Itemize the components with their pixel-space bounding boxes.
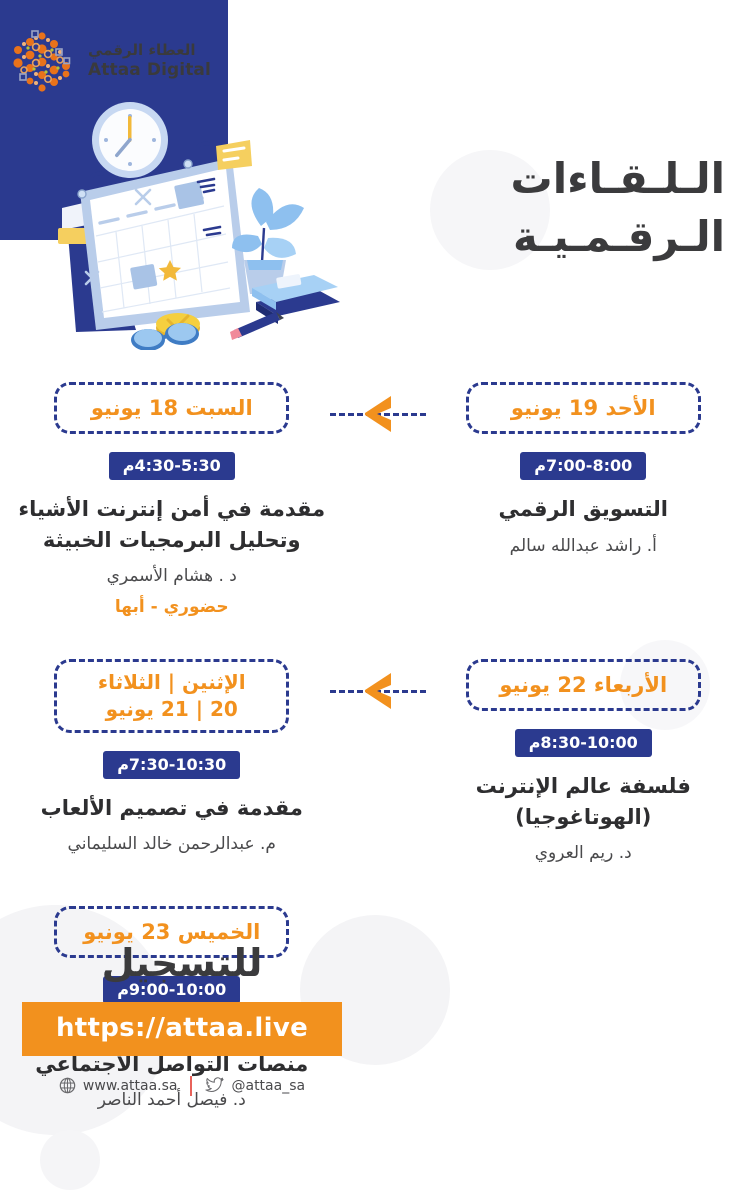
registration-label: للتسجيل (22, 940, 342, 988)
title-line-1: الـلـقـاءات (305, 150, 725, 208)
social-links: www.attaa.sa @attaa_sa (22, 1076, 342, 1096)
event-time-badge: 8:30-10:00م (515, 729, 652, 757)
social-divider (190, 1076, 192, 1096)
event-date-chip: الإثنين | الثلاثاء 20 | 21 يونيو (54, 659, 289, 733)
background-circle (40, 1130, 100, 1190)
twitter-label: @attaa_sa (231, 1078, 305, 1094)
calendar-desk-illustration (18, 40, 358, 350)
website-link[interactable]: www.attaa.sa (59, 1077, 178, 1094)
event-date-chip: السبت 18 يونيو (54, 382, 289, 434)
event-topic: فلسفة عالم الإنترنت (الهوتاغوجيا) (426, 771, 742, 832)
schedule-row: السبت 18 يونيو 4:30-5:30م مقدمة في أمن إ… (14, 382, 741, 617)
poster-header: العطاء الرقمي Attaa Digital الـلـقـاءات … (0, 0, 755, 360)
event-card[interactable]: الإثنين | الثلاثاء 20 | 21 يونيو 7:30-10… (14, 659, 330, 857)
arrow-left-connector (330, 659, 426, 723)
event-time-badge: 4:30-5:30م (109, 452, 235, 480)
schedule-row: الإثنين | الثلاثاء 20 | 21 يونيو 7:30-10… (14, 659, 741, 866)
registration-block: للتسجيل https://attaa.live www.attaa.sa … (22, 940, 342, 1096)
event-speaker: د . هشام الأسمري (14, 565, 330, 589)
page-title: الـلـقـاءات الـرقـمـيـة (305, 150, 725, 266)
arrow-left-icon (361, 671, 395, 711)
connector-placeholder (330, 906, 426, 970)
event-date-line-2: 20 | 21 يونيو (106, 697, 238, 721)
event-card[interactable]: الأحد 19 يونيو 7:00-8:00م التسويق الرقمي… (426, 382, 742, 559)
twitter-bird-icon (205, 1077, 224, 1094)
globe-icon (59, 1077, 76, 1094)
website-label: www.attaa.sa (83, 1078, 178, 1094)
event-speaker: م. عبدالرحمن خالد السليماني (14, 833, 330, 857)
title-line-2: الـرقـمـيـة (305, 208, 725, 266)
event-date-chip: الأربعاء 22 يونيو (466, 659, 701, 711)
arrow-left-icon (361, 394, 395, 434)
event-topic: مقدمة في أمن إنترنت الأشياء وتحليل البرم… (14, 494, 330, 555)
event-time-badge: 7:00-8:00م (520, 452, 646, 480)
event-card[interactable]: الأربعاء 22 يونيو 8:30-10:00م فلسفة عالم… (426, 659, 742, 866)
event-date-line-1: الإثنين | الثلاثاء (98, 670, 246, 694)
event-speaker: أ. راشد عبدالله سالم (426, 535, 742, 559)
event-topic: مقدمة في تصميم الألعاب (14, 793, 330, 823)
twitter-link[interactable]: @attaa_sa (205, 1077, 305, 1094)
event-speaker: د. ريم العروي (426, 842, 742, 866)
event-date-chip: الأحد 19 يونيو (466, 382, 701, 434)
event-card[interactable]: السبت 18 يونيو 4:30-5:30م مقدمة في أمن إ… (14, 382, 330, 617)
arrow-left-connector (330, 382, 426, 446)
event-topic: التسويق الرقمي (426, 494, 742, 524)
event-venue: حضوري - أبها (14, 597, 330, 617)
registration-url-button[interactable]: https://attaa.live (22, 1002, 342, 1056)
event-time-badge: 7:30-10:30م (103, 751, 240, 779)
